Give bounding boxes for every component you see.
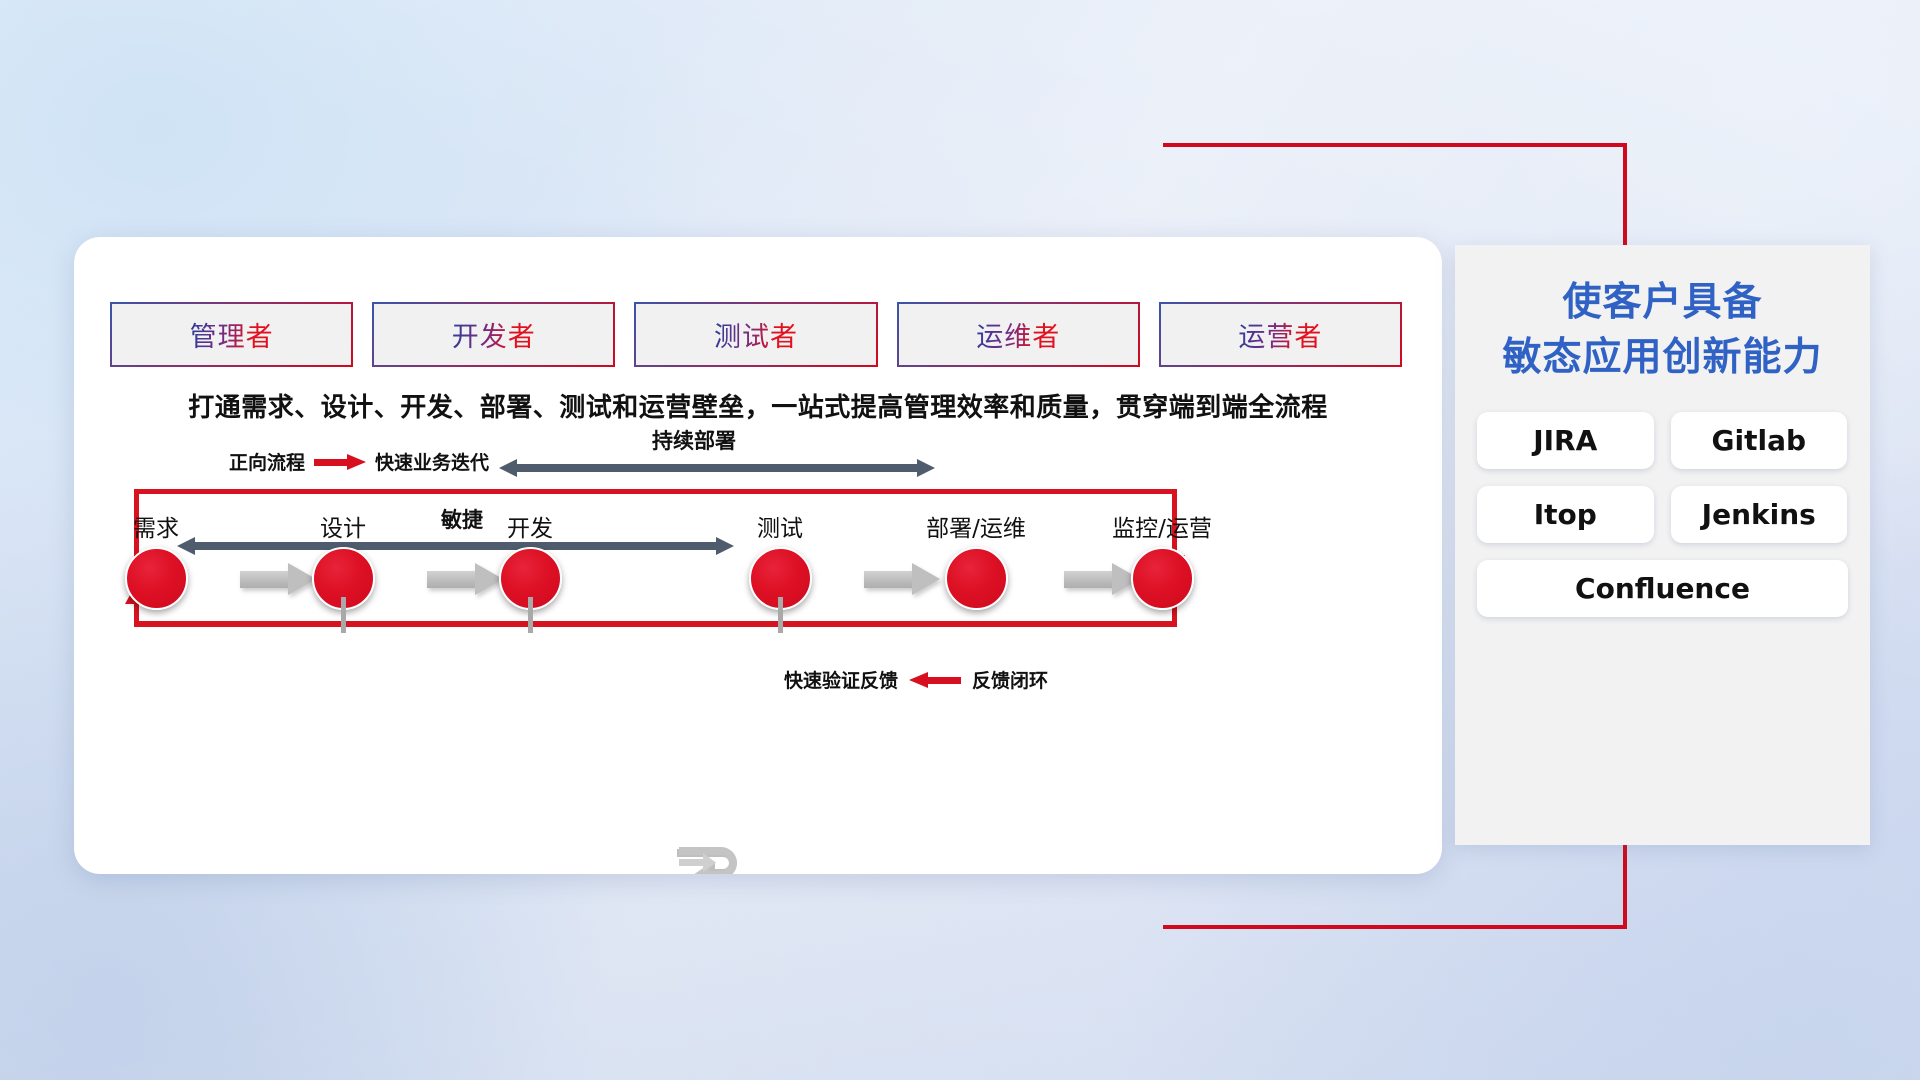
tool-item-itop[interactable]: Itop [1477,486,1654,543]
role-box-operations[interactable]: 运营者 [1159,302,1402,367]
stage-label: 部署/运维 [896,509,1056,543]
tool-item-jira[interactable]: JIRA [1477,412,1654,469]
legend-forward-right-label: 快速业务迭代 [375,448,489,475]
role-box-ops[interactable]: 运维者 [897,302,1140,367]
stage-label: 需求 [96,509,216,543]
legend-forward-left-label: 正向流程 [229,448,305,475]
capability-panel: 使客户具备 敏态应用创新能力 JIRA Gitlab Itop Jenkins … [1455,245,1870,845]
legend-feedback-left-label: 快速验证反馈 [784,666,898,693]
stage-label: 设计 [283,509,403,543]
feedback-loop-top-line [134,489,1177,494]
stage-development[interactable]: 开发 [470,509,590,610]
legend-forward-flow: 正向流程 快速业务迭代 [229,448,489,475]
main-card: 管理者 开发者 测试者 运维者 运营者 打通需求、设计、开发、部署、测试和运营壁… [74,237,1442,874]
legend-feedback-right-label: 反馈闭环 [972,666,1048,693]
stage-dot [945,547,1008,610]
legend-feedback-loop: 快速验证反馈 反馈闭环 [784,666,1048,693]
role-box-developer[interactable]: 开发者 [372,302,615,367]
stage-stem [341,597,346,633]
panel-title: 使客户具备 敏态应用创新能力 [1455,275,1870,386]
arrow-bar [516,464,918,472]
continuous-deployment-arrow [499,459,935,477]
stage-label: 监控/运营 [1082,509,1242,543]
tool-item-confluence[interactable]: Confluence [1477,560,1848,617]
red-arrow-left-icon [909,672,961,688]
role-boxes-row: 管理者 开发者 测试者 运维者 运营者 [110,302,1402,367]
subtitle-text: 打通需求、设计、开发、部署、测试和运营壁垒，一站式提高管理效率和质量，贯穿端到端… [74,387,1442,424]
stage-label: 开发 [470,509,590,543]
iteration-cycle-arrow-icon [675,839,765,874]
stage-stem [528,597,533,633]
stage-testing[interactable]: 测试 [720,509,840,610]
tool-item-gitlab[interactable]: Gitlab [1671,412,1848,469]
stage-monitor-operations[interactable]: 监控/运营 [1082,509,1242,610]
stage-dot [1131,547,1194,610]
role-label: 运营者 [1238,315,1322,354]
arrow-head-right-icon [917,459,935,477]
stage-stem [778,597,783,633]
panel-title-line1: 使客户具备 [1562,280,1762,325]
role-label: 测试者 [714,315,798,354]
stage-requirements[interactable]: 需求 [96,509,216,610]
arrow-head-left-icon [499,459,517,477]
role-box-manager[interactable]: 管理者 [110,302,353,367]
stage-design[interactable]: 设计 [283,509,403,610]
role-label: 开发者 [452,315,536,354]
role-label: 运维者 [976,315,1060,354]
red-arrow-right-icon [314,454,366,470]
pipeline-stages: 需求 设计 开发 [74,509,1442,629]
stage-dot [125,547,188,610]
stage-label: 测试 [720,509,840,543]
role-box-tester[interactable]: 测试者 [634,302,877,367]
tool-list: JIRA Gitlab Itop Jenkins Confluence [1477,412,1848,617]
continuous-deployment-label: 持续部署 [652,425,736,455]
tool-item-jenkins[interactable]: Jenkins [1671,486,1848,543]
role-label: 管理者 [190,315,274,354]
stage-deploy-ops[interactable]: 部署/运维 [896,509,1056,610]
panel-title-line2: 敏态应用创新能力 [1455,330,1870,385]
